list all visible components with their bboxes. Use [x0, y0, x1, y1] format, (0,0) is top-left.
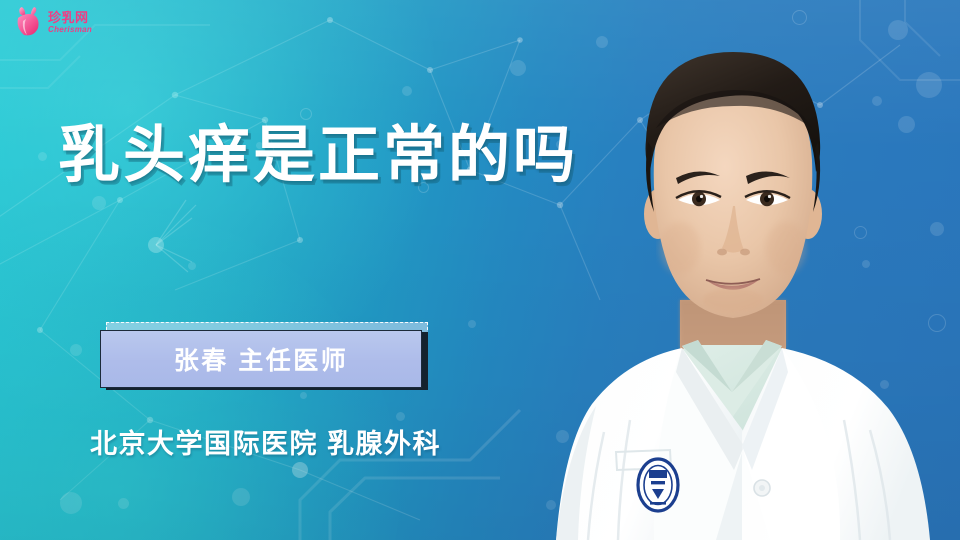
lotus-petal-icon — [14, 6, 44, 38]
page-title: 乳头痒是正常的吗 — [58, 104, 578, 194]
logo-name-cn: 珍乳网 — [48, 11, 92, 24]
speaker-name-and-rank: 张春 主任医师 — [174, 341, 348, 377]
affiliation-text: 北京大学国际医院 乳腺外科 — [90, 422, 441, 461]
site-logo[interactable]: 珍乳网 Cherisman — [14, 6, 92, 38]
hospital-emblem-icon — [638, 459, 678, 511]
speaker-badge: 张春 主任医师 — [100, 322, 430, 390]
doctor-portrait — [530, 0, 960, 540]
video-thumbnail-canvas: 珍乳网 Cherisman 乳头痒是正常的吗 张春 主任医师 北京大学国际医院 … — [0, 0, 960, 540]
badge-main-layer: 张春 主任医师 — [100, 330, 422, 388]
logo-name-en: Cherisman — [48, 26, 92, 34]
